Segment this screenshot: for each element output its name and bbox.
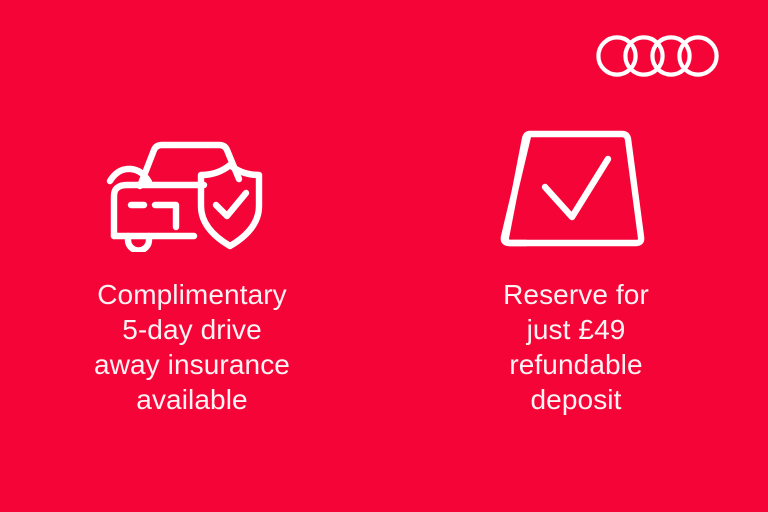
a-frame-sign-glyph: [500, 124, 652, 252]
car-shield-glyph: [106, 124, 278, 252]
feature-caption-insurance: Complimentary 5-day drive away insurance…: [27, 277, 357, 417]
shield-check: [216, 193, 246, 216]
feature-item-deposit: Reserve for just £49 refundable deposit: [384, 120, 768, 417]
features-row: Complimentary 5-day drive away insurance…: [0, 120, 768, 417]
promo-banner: Complimentary 5-day drive away insurance…: [0, 0, 768, 512]
feature-caption-deposit: Reserve for just £49 refundable deposit: [426, 277, 726, 417]
car-body-left: [114, 185, 204, 236]
sign-check: [545, 159, 608, 217]
feature-item-insurance: Complimentary 5-day drive away insurance…: [0, 120, 384, 417]
four-rings-icon: [596, 33, 722, 79]
car-door-divider: [155, 205, 176, 227]
shield-outline: [201, 165, 259, 246]
sign-rear-leg: [504, 136, 528, 243]
car-shield-icon: [106, 120, 278, 255]
ring-4: [679, 37, 716, 74]
a-frame-sign-check-icon: [500, 120, 652, 255]
audi-four-rings-logo: [596, 33, 722, 79]
